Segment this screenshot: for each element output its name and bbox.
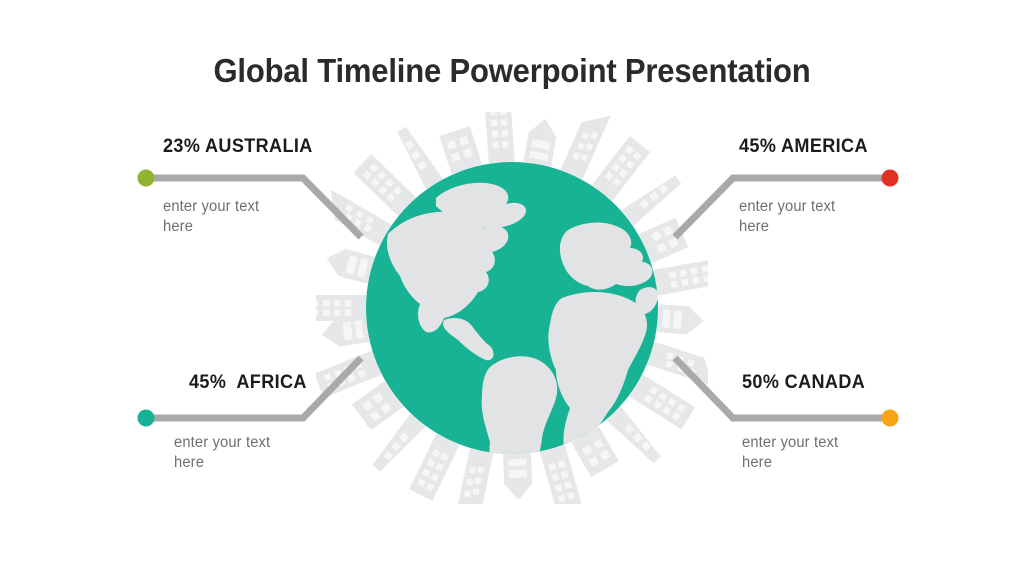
- page-title: Global Timeline Powerpoint Presentation: [31, 52, 994, 90]
- callout-headline-africa: 45% AFRICA: [189, 372, 408, 394]
- marker-dot-africa[interactable]: [138, 410, 155, 427]
- callout-headline-canada: 50% CANADA: [742, 372, 970, 394]
- marker-dot-australia[interactable]: [138, 170, 155, 187]
- callout-canada[interactable]: 50% CANADA enter your text here: [742, 372, 982, 474]
- callout-australia[interactable]: 23% AUSTRALIA enter your text here: [163, 136, 393, 238]
- callout-body-africa: enter your text here: [174, 433, 298, 474]
- callout-body-canada: enter your text here: [742, 433, 866, 474]
- callout-africa[interactable]: 45% AFRICA enter your text here: [189, 372, 419, 474]
- callout-headline-america: 45% AMERICA: [739, 136, 967, 158]
- callout-body-australia: enter your text here: [163, 197, 287, 238]
- callout-america[interactable]: 45% AMERICA enter your text here: [739, 136, 979, 238]
- callout-body-america: enter your text here: [739, 197, 863, 238]
- callout-headline-australia: 23% AUSTRALIA: [163, 136, 382, 158]
- presentation-slide: Global Timeline Powerpoint Presentation: [0, 0, 1024, 576]
